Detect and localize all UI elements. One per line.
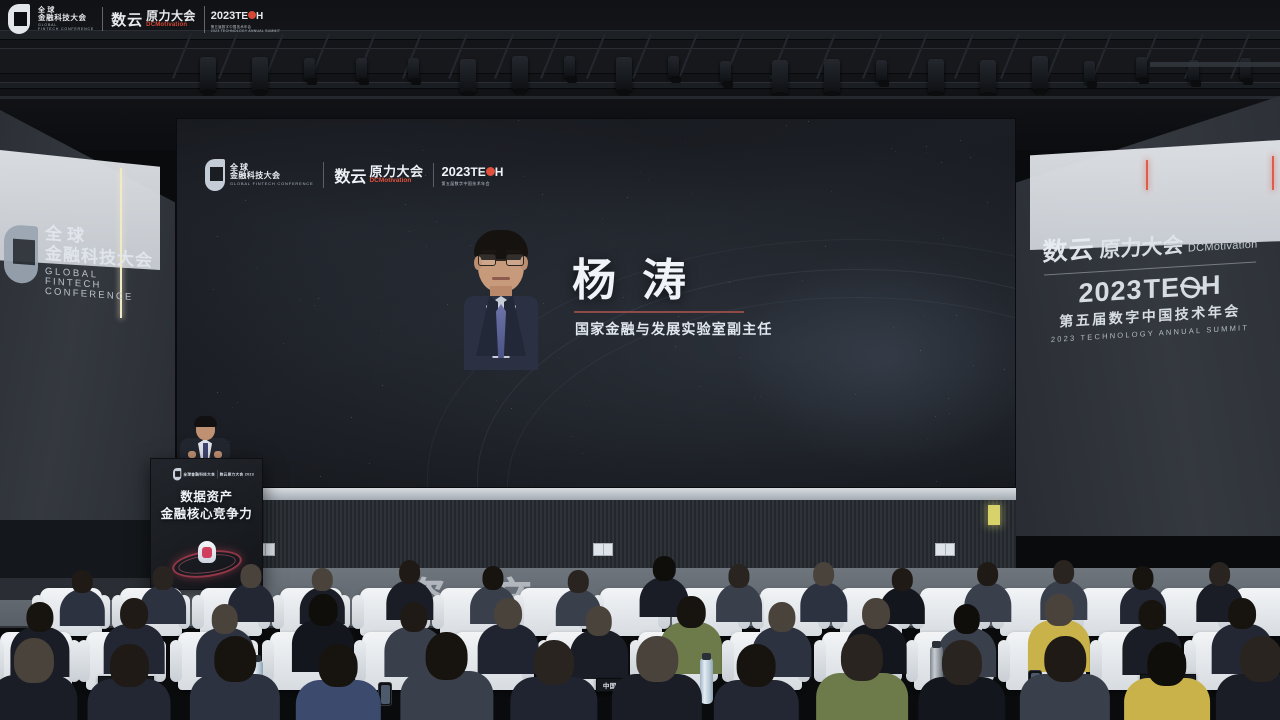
audience-member	[510, 640, 597, 720]
screen-star	[831, 191, 832, 192]
screen-star	[351, 417, 352, 418]
screen-star	[802, 280, 803, 281]
screen-star	[754, 398, 755, 399]
tech-red-dot-icon	[486, 167, 495, 176]
stage-light-icon	[252, 57, 268, 91]
screen-star	[948, 398, 949, 399]
screen-star	[987, 202, 988, 203]
screen-speaker-title: 国家金融与发展实验室副主任	[575, 319, 773, 339]
audience-head	[841, 634, 883, 681]
screen-star	[920, 350, 921, 351]
screen-gfc-cn2: 金融科技大会	[230, 172, 313, 180]
emergency-light-icon	[988, 505, 1000, 525]
screen-speaker-rule	[574, 311, 744, 313]
audience-area	[0, 540, 1280, 720]
screen-star	[250, 404, 251, 405]
stage-light-icon	[720, 61, 731, 83]
audience-head	[737, 644, 776, 687]
screen-star	[300, 299, 301, 300]
audience-head	[768, 602, 795, 632]
audience-head	[425, 632, 468, 680]
screen-star	[949, 413, 950, 414]
tech-e-swoosh-icon	[1178, 273, 1203, 301]
screen-star	[829, 460, 830, 461]
stage-light-icon	[1032, 56, 1048, 90]
screen-star	[675, 346, 676, 347]
watermark-year: 2023	[211, 10, 235, 22]
audience-head	[1132, 566, 1153, 590]
screen-star	[558, 358, 559, 359]
stage-light-icon	[564, 56, 575, 78]
screen-star	[314, 305, 315, 306]
gfc-logo-mark-icon	[173, 468, 181, 480]
screen-star	[943, 238, 944, 239]
screen-star	[648, 179, 649, 180]
screen-star	[232, 407, 233, 408]
screen-star	[740, 357, 741, 358]
audience-head	[862, 598, 890, 629]
audience-head	[1147, 642, 1186, 686]
audience-head	[636, 636, 677, 682]
stage-light-icon	[512, 56, 528, 90]
screen-star	[729, 282, 730, 283]
podium-logos: 全球金融科技大会 数云原力大会 2023	[173, 468, 254, 480]
podium-title-line1: 数据资产	[151, 489, 262, 506]
screen-star	[895, 151, 896, 152]
stage-light-icon	[1136, 57, 1147, 79]
watermark-gfc-en2: FINTECH CONFERENCE	[38, 28, 94, 32]
watermark-year-logo: 2023TEH 第五届数字中国技术年会 2023 TECHNOLOGY ANNU…	[204, 6, 281, 33]
screen-star	[245, 200, 246, 201]
screen-gfc-logo: 全球 金融科技大会 GLOBAL FINTECH CONFERENCE	[205, 159, 313, 191]
main-led-screen: 全球 金融科技大会 GLOBAL FINTECH CONFERENCE 数云 原…	[176, 118, 1016, 488]
screen-star	[926, 146, 927, 147]
audience-head	[653, 556, 675, 581]
audience-head	[319, 644, 358, 687]
audience-head	[399, 560, 421, 584]
conference-stage-photo: 全球 金融科技大会 GLOBAL FINTECH CONFERENCE 数云 原…	[0, 0, 1280, 720]
screen-star	[571, 436, 572, 437]
screen-star	[381, 330, 382, 331]
audience-head	[977, 562, 999, 586]
watermark-shu: 数云	[111, 9, 143, 30]
audience-member	[1216, 636, 1280, 720]
screen-star	[627, 197, 628, 198]
audience-head	[240, 564, 261, 588]
gfc-logo-mark-icon	[205, 159, 225, 191]
audience-head	[586, 606, 613, 636]
audience-head	[1053, 560, 1075, 584]
screen-tech-post: H	[495, 165, 504, 179]
audience-head	[813, 562, 835, 586]
audience-head	[1044, 636, 1085, 682]
screen-star	[640, 171, 641, 172]
screen-star	[700, 386, 701, 387]
screen-star	[808, 121, 809, 122]
audience-member	[190, 636, 280, 720]
screen-star	[602, 218, 603, 219]
stage-light-icon	[356, 58, 367, 80]
stage-light-icon	[304, 58, 315, 80]
screen-star	[861, 484, 862, 485]
wall-right-tech-pre: TE	[1144, 272, 1181, 305]
screen-star	[956, 315, 957, 316]
screen-star	[678, 316, 679, 317]
watermark-dcm-cn: 原力大会	[146, 10, 196, 22]
ceiling-pipe-right	[1150, 62, 1280, 67]
screen-star	[970, 157, 971, 158]
stage-light-icon	[408, 58, 419, 80]
screen-star	[960, 140, 961, 141]
stage-light-icon	[616, 57, 632, 91]
watermark-dcm-logo: 数云 原力大会 DCMotivation	[111, 9, 196, 30]
screen-gfc-en: GLOBAL FINTECH CONFERENCE	[230, 182, 313, 186]
wall-right-branding: 数云 原力大会 DCMotivation 2023 TE H 第五届数字中国技术…	[1030, 219, 1270, 346]
podium-title-line2: 金融核心竞争力	[151, 506, 262, 523]
screen-star	[786, 125, 787, 126]
screen-star	[496, 400, 497, 401]
screen-star	[382, 385, 383, 386]
stage-light-icon	[980, 60, 996, 94]
screen-dcm-en: DCMotivation	[369, 178, 423, 185]
screen-star	[589, 400, 590, 401]
wall-left-branding: 全球 金融科技大会 GLOBAL FINTECH CONFERENCE	[4, 222, 174, 334]
podium-logo-cn: 全球金融科技大会	[183, 472, 215, 477]
audience-member	[400, 632, 493, 720]
broadcast-watermark: 全球 金融科技大会 GLOBAL FINTECH CONFERENCE 数云 原…	[8, 4, 280, 34]
screen-star	[976, 286, 977, 287]
screen-year-sub: 第五届数字中国技术年会	[441, 181, 503, 187]
audience-head	[482, 566, 503, 590]
podium-logo-dcm: 数云原力大会 2023	[220, 472, 254, 477]
audience-head	[677, 596, 706, 628]
audience-head	[942, 640, 982, 685]
audience-head	[152, 566, 173, 590]
audience-member	[816, 634, 908, 720]
audience-member	[714, 644, 798, 720]
audience-head	[494, 598, 522, 629]
audience-head	[400, 602, 427, 632]
wall-right-shu: 数云	[1042, 229, 1094, 268]
screen-star	[542, 194, 543, 195]
screen-star	[531, 483, 532, 484]
live-speaker-figure	[178, 418, 232, 462]
wall-right-en: DCMotivation	[1188, 238, 1258, 254]
audience-member	[612, 636, 702, 720]
audience-head	[1045, 594, 1074, 626]
watermark-divider	[102, 7, 103, 31]
screen-star	[692, 193, 693, 194]
screen-year-logo: 2023TEH 第五届数字中国技术年会	[433, 163, 503, 187]
screen-dcm-shu: 数云	[334, 163, 366, 187]
audience-head	[1138, 600, 1165, 630]
audience-head	[1240, 636, 1280, 682]
podium-title: 数据资产 金融核心竞争力	[151, 489, 262, 523]
stage-light-icon	[200, 57, 216, 91]
screen-star	[760, 396, 761, 397]
ceiling-pipe	[0, 96, 1280, 99]
audience-head	[728, 564, 749, 588]
audience-member	[296, 644, 380, 720]
stage-light-icon	[460, 59, 476, 93]
wall-light-strip-right-b	[1272, 156, 1274, 190]
screen-star	[405, 204, 406, 205]
screen-star	[935, 416, 936, 417]
wall-light-strip-right-a	[1146, 160, 1148, 190]
screen-star	[436, 221, 437, 222]
stage-light-icon	[772, 60, 788, 94]
tech-red-dot-icon	[248, 11, 256, 19]
screen-star	[318, 298, 319, 299]
screen-star	[955, 263, 956, 264]
audience-head	[534, 640, 574, 685]
screen-star	[685, 142, 686, 143]
audience-member	[88, 644, 171, 720]
watermark-summit-en: 2023 TECHNOLOGY ANNUAL SUMMIT	[211, 29, 281, 33]
audience-head	[312, 568, 332, 591]
audience-head	[954, 604, 981, 634]
screen-star	[543, 303, 544, 304]
audience-head	[892, 568, 912, 591]
screen-speaker-portrait	[462, 230, 540, 370]
audience-member	[0, 638, 77, 720]
audience-head	[1209, 562, 1231, 586]
screen-star	[217, 392, 218, 393]
audience-head	[72, 570, 92, 593]
gfc-logo-mark-icon	[4, 224, 38, 284]
watermark-gfc-cn2: 金融科技大会	[38, 14, 94, 22]
screen-star	[524, 176, 525, 177]
screen-star	[213, 289, 214, 290]
watermark-tech-pre: TE	[235, 11, 248, 22]
screen-star	[926, 152, 927, 153]
screen-year: 2023	[441, 164, 470, 179]
audience-head	[14, 638, 54, 683]
screen-dcm-logo: 数云 原力大会 DCMotivation	[334, 163, 423, 187]
wall-right-year: 2023	[1078, 274, 1142, 309]
audience-member	[918, 640, 1005, 720]
screen-header-logos: 全球 金融科技大会 GLOBAL FINTECH CONFERENCE 数云 原…	[205, 159, 503, 191]
stage-light-icon	[876, 60, 887, 82]
audience-head	[212, 604, 239, 634]
audience-head	[110, 644, 148, 687]
audience-head	[1228, 598, 1256, 629]
screen-star	[422, 150, 423, 151]
screen-star	[217, 236, 218, 237]
screen-star	[518, 120, 519, 121]
screen-star	[1004, 369, 1005, 370]
audience-head	[568, 570, 588, 593]
screen-star	[973, 365, 974, 366]
stage-light-icon	[928, 59, 944, 93]
audience-head	[309, 594, 338, 626]
gfc-logo-mark-icon	[8, 4, 30, 34]
screen-star	[409, 231, 410, 232]
wall-right-cn: 原力大会	[1099, 234, 1183, 262]
screen-tech-pre: TE	[470, 165, 485, 179]
screen-speaker-name: 杨涛	[572, 244, 712, 308]
watermark-tech-post: H	[256, 11, 263, 22]
screen-star	[927, 439, 928, 440]
stage-light-icon	[1084, 61, 1095, 83]
screen-logo-divider	[323, 162, 324, 188]
screen-star	[936, 481, 937, 482]
screen-star	[855, 394, 856, 395]
screen-star	[668, 217, 669, 218]
screen-star	[283, 343, 284, 344]
audience-shoulders	[1216, 674, 1280, 720]
screen-star	[773, 189, 774, 190]
screen-star	[426, 246, 427, 247]
screen-star	[237, 402, 238, 403]
audience-member	[1020, 636, 1110, 720]
screen-star	[511, 408, 512, 409]
screen-star	[447, 304, 448, 305]
audience-head	[120, 598, 148, 629]
screen-star	[825, 246, 826, 247]
screen-star	[893, 327, 894, 328]
audience-head	[26, 602, 53, 632]
audience-head	[214, 636, 255, 682]
screen-star	[543, 203, 544, 204]
stage-light-icon	[668, 56, 679, 78]
screen-star	[437, 370, 438, 371]
screen-star	[320, 476, 321, 477]
screen-star	[923, 316, 924, 317]
podium-logo-divider	[217, 470, 218, 478]
screen-star	[369, 463, 370, 464]
audience-member	[1124, 642, 1210, 720]
screen-star	[256, 268, 257, 269]
screen-star	[582, 453, 583, 454]
screen-star	[891, 148, 892, 149]
stage-light-icon	[824, 59, 840, 93]
screen-star	[941, 162, 942, 163]
